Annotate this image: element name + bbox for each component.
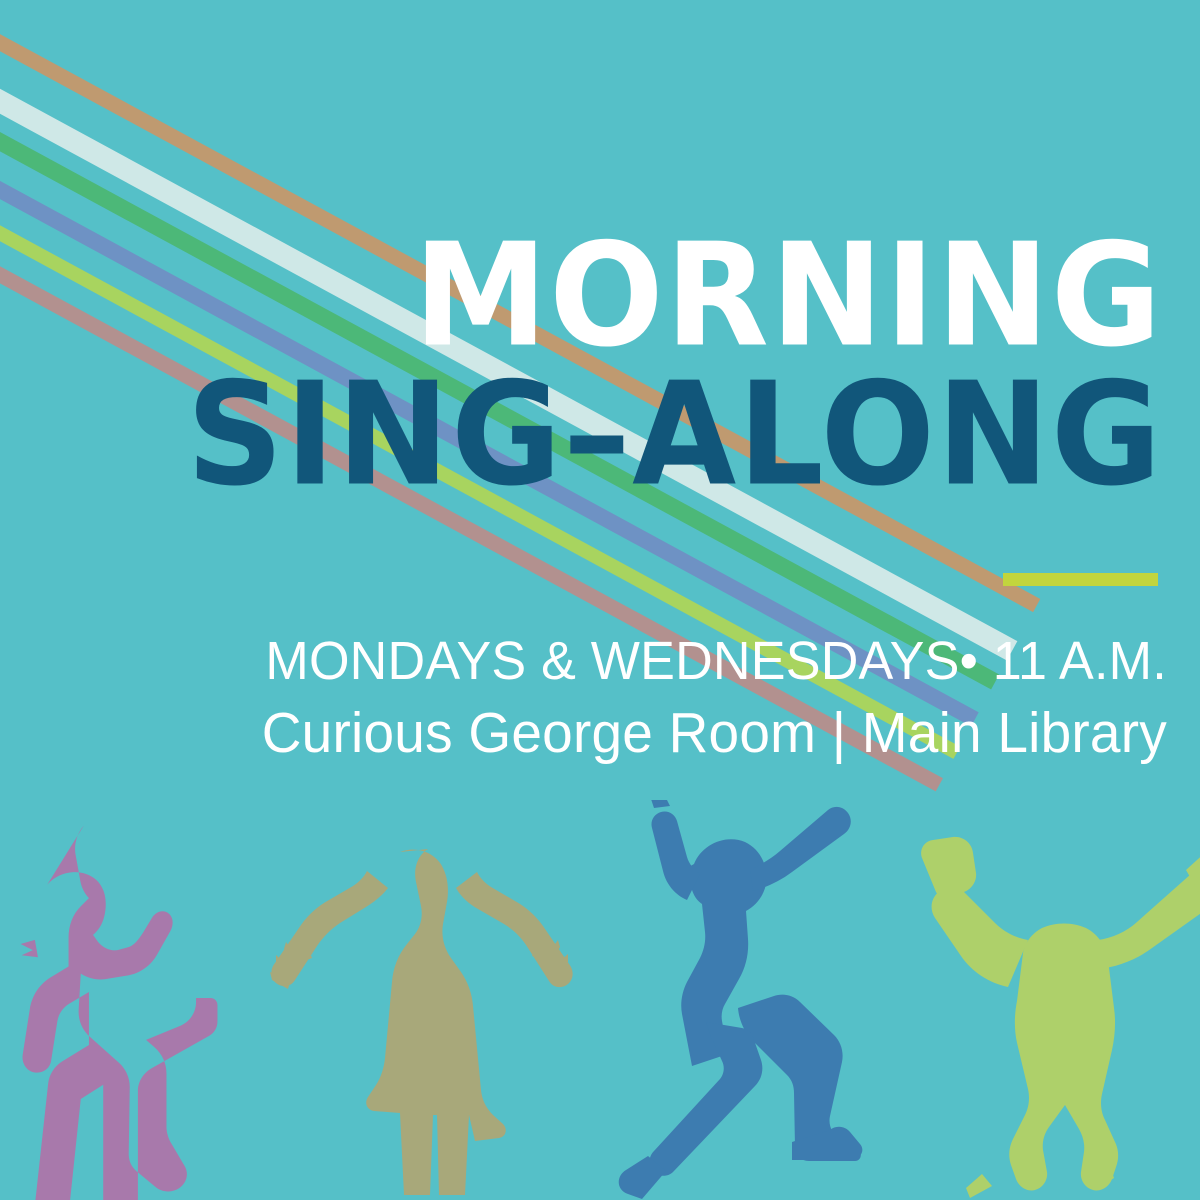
children-silhouettes xyxy=(0,800,1200,1200)
event-schedule-text: MONDAYS & WEDNESDAYS• 11 A.M. xyxy=(41,626,1167,696)
headline-line-morning: MORNING xyxy=(0,231,1163,362)
child-arms-up-silhouette xyxy=(270,849,573,1195)
poster-canvas: MORNING SING–ALONG MONDAYS & WEDNESDAYS•… xyxy=(0,0,1200,1200)
headline-block: MORNING SING–ALONG xyxy=(0,236,1163,497)
headline-line-sing-along: SING–ALONG xyxy=(0,371,1163,502)
child-handstand-silhouette xyxy=(921,837,1200,1198)
event-location-text: Curious George Room | Main Library xyxy=(41,696,1167,770)
child-jumping-silhouette xyxy=(619,800,863,1199)
child-running-silhouette xyxy=(21,826,218,1200)
lime-divider-rule xyxy=(1003,573,1158,586)
event-details-block: MONDAYS & WEDNESDAYS• 11 A.M. Curious Ge… xyxy=(0,626,1167,770)
